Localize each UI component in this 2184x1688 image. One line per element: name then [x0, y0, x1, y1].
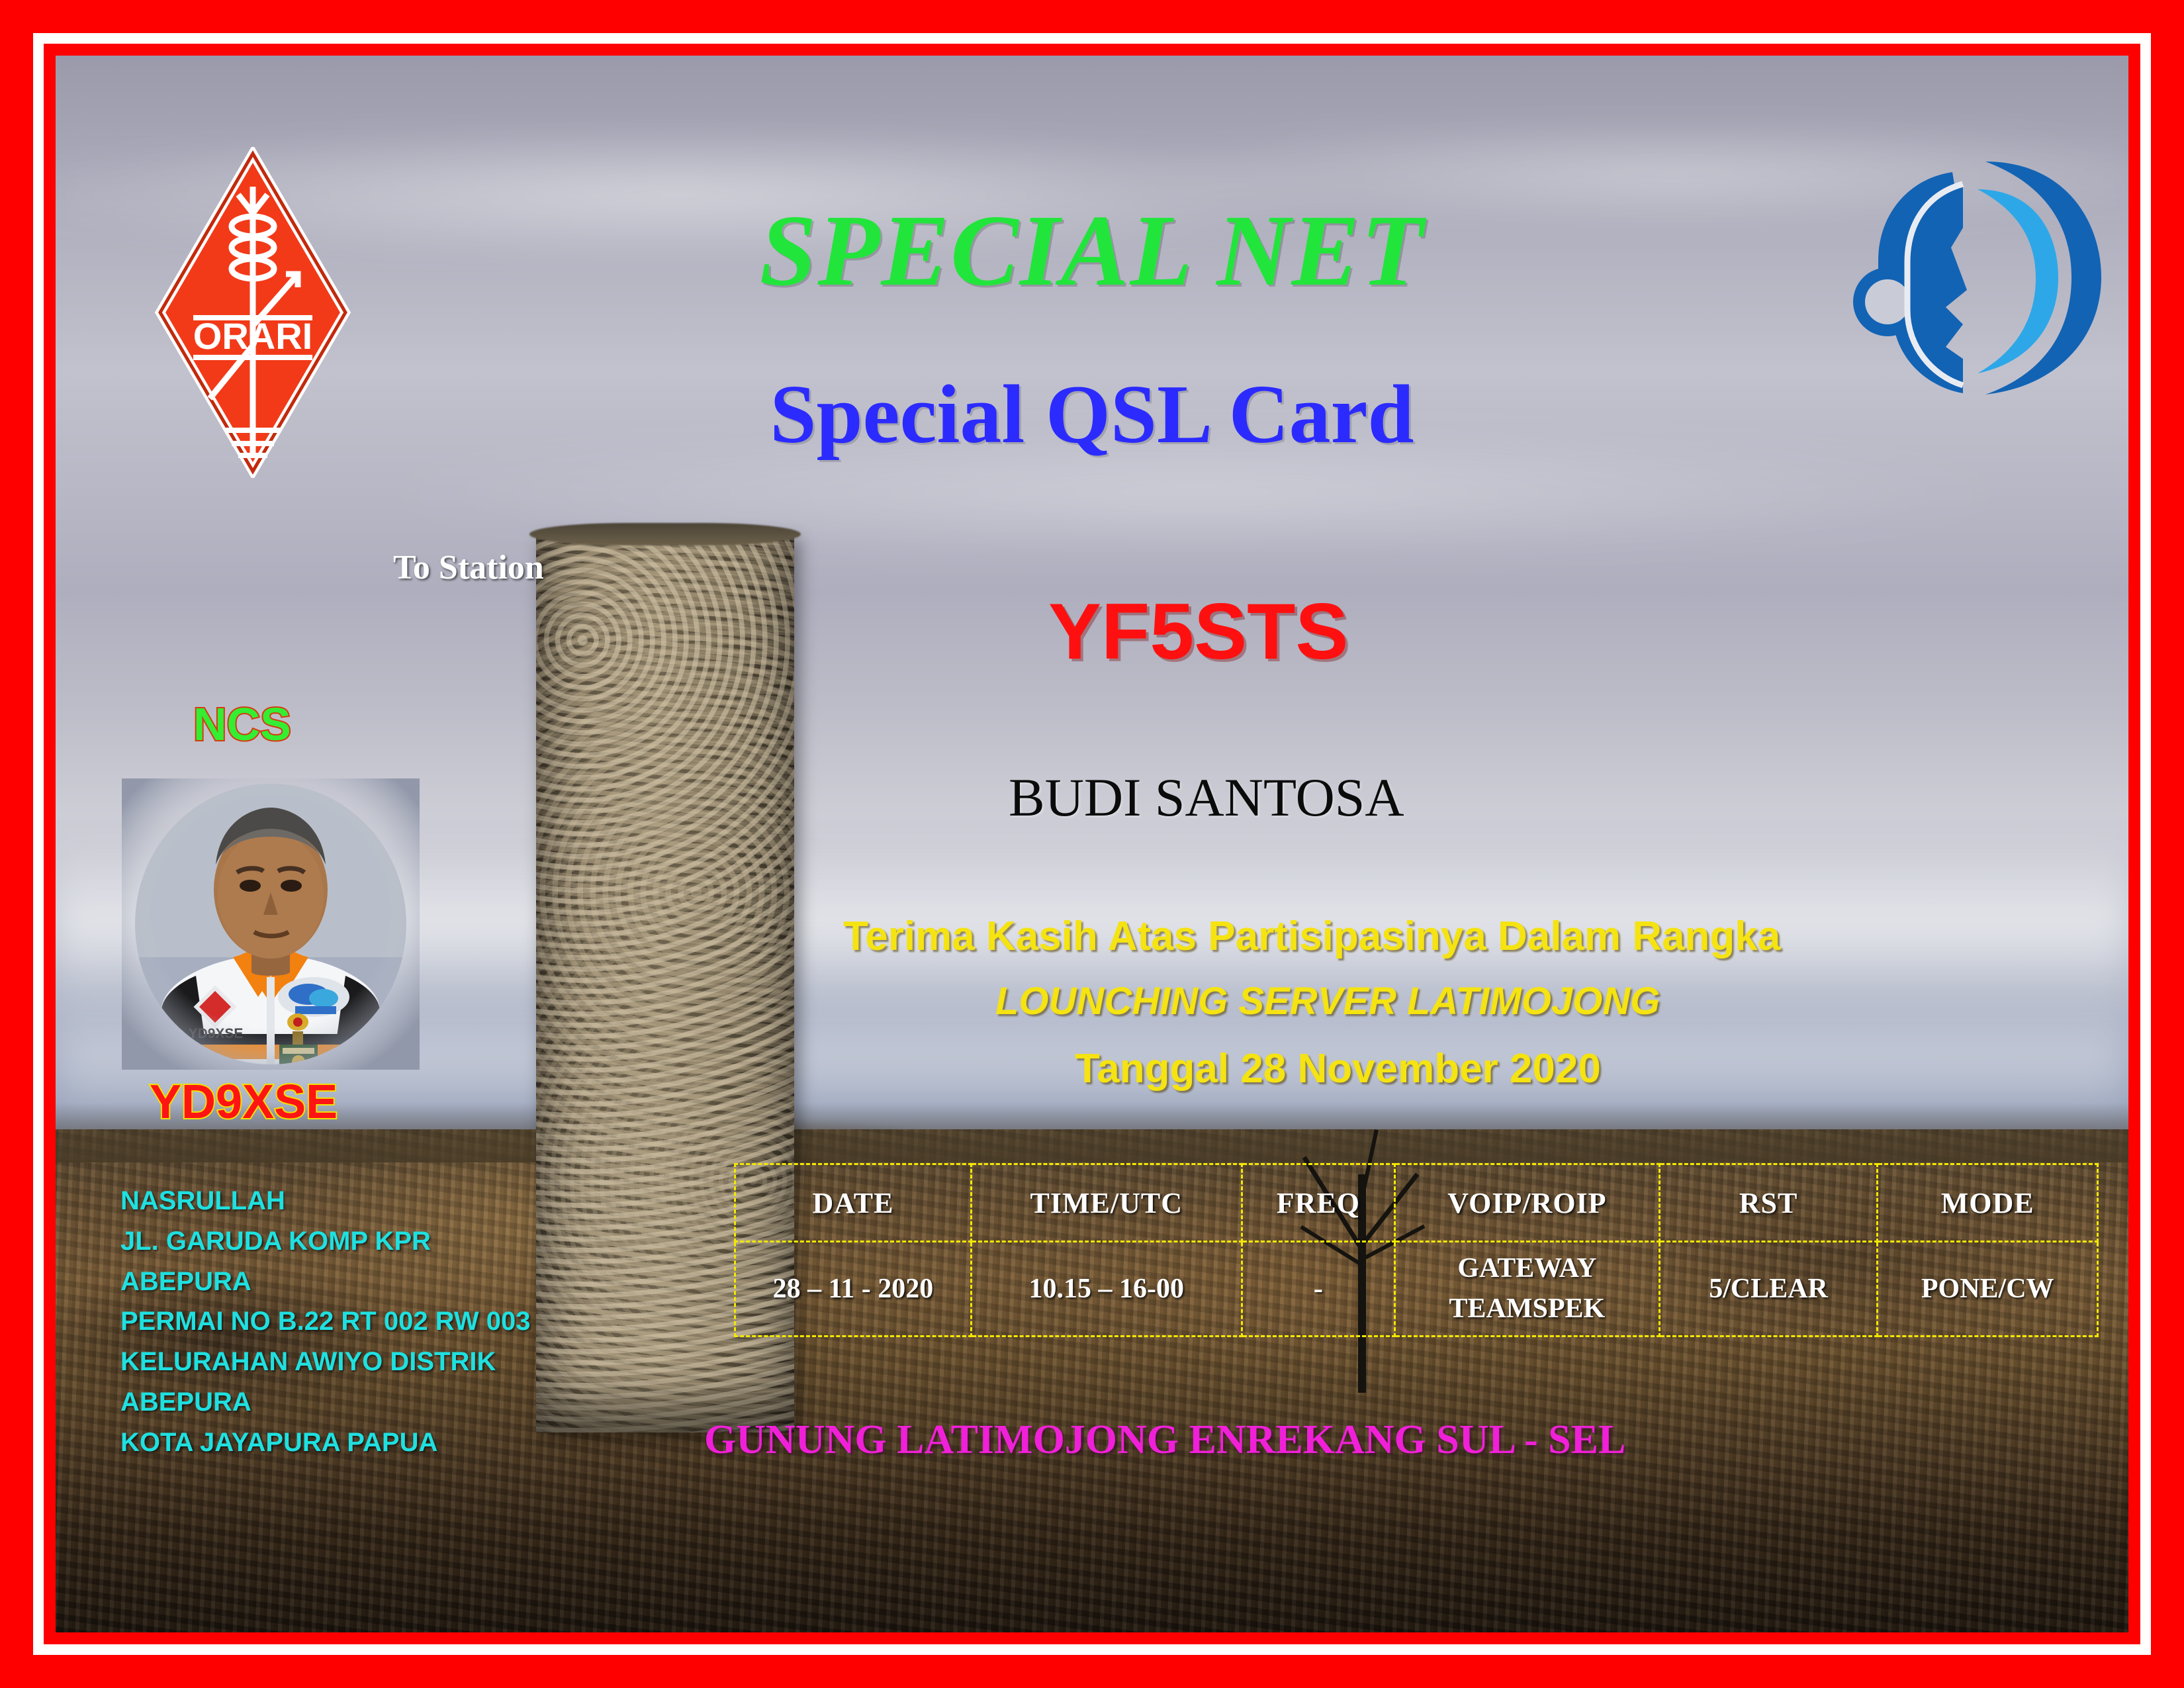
orari-logo-text: ORARI	[193, 315, 312, 357]
address-line: KOTA JAYAPURA PAPUA	[120, 1423, 530, 1463]
mountain-location-line: GUNUNG LATIMOJONG ENREKANG SUL - SEL	[704, 1419, 1625, 1460]
log-table-body: 28 – 11 - 2020 10.15 – 16-00 - GATEWAY T…	[735, 1242, 2098, 1336]
cell-date: 28 – 11 - 2020	[735, 1242, 972, 1336]
header-time-utc: TIME/UTC	[971, 1164, 1242, 1242]
address-line: PERMAI NO B.22 RT 002 RW 003	[120, 1301, 530, 1342]
table-header-row: DATE TIME/UTC FREQ VOIP/ROIP RST MODE	[735, 1164, 2098, 1242]
qso-log-table: DATE TIME/UTC FREQ VOIP/ROIP RST MODE 28…	[734, 1163, 2099, 1337]
thanks-line-3: Tanggal 28 November 2020	[1075, 1049, 1601, 1090]
header-voip-roip: VOIP/ROIP	[1395, 1164, 1660, 1242]
header-rst: RST	[1659, 1164, 1878, 1242]
thanks-line-1: Terima Kasih Atas Partisipasinya Dalam R…	[843, 916, 1780, 957]
thanks-line-2: LOUNCHING SERVER LATIMOJONG	[995, 982, 1660, 1021]
address-line: NASRULLAH	[120, 1181, 530, 1221]
address-line: ABEPURA	[120, 1262, 530, 1302]
cell-voip-line1: GATEWAY	[1396, 1248, 1658, 1289]
header-date: DATE	[735, 1164, 972, 1242]
ncs-operator-photo: YD9XSE	[122, 778, 420, 1070]
qsl-card: ORARI	[0, 0, 2184, 1688]
address-line: KELURAHAN AWIYO DISTRIK	[120, 1342, 530, 1382]
cell-voip-line2: TEAMSPEK	[1396, 1289, 1658, 1329]
address-line: JL. GARUDA KOMP KPR	[120, 1221, 530, 1262]
header-freq: FREQ	[1242, 1164, 1394, 1242]
log-table-header: DATE TIME/UTC FREQ VOIP/ROIP RST MODE	[735, 1164, 2098, 1242]
card-background-photo: ORARI	[56, 56, 2128, 1632]
cell-time: 10.15 – 16-00	[971, 1242, 1242, 1336]
cell-mode: PONE/CW	[1878, 1242, 2098, 1336]
ground-top-shadow	[56, 1103, 2128, 1162]
ncs-callsign: YD9XSE	[150, 1078, 338, 1126]
to-station-label: To Station	[393, 551, 544, 585]
operator-name: BUDI SANTOSA	[1009, 771, 1404, 825]
ncs-address-block: NASRULLAHJL. GARUDA KOMP KPRABEPURAPERMA…	[120, 1181, 530, 1463]
card-subtitle: Special QSL Card	[56, 373, 2128, 457]
table-row: 28 – 11 - 2020 10.15 – 16-00 - GATEWAY T…	[735, 1242, 2098, 1336]
monument-cap	[529, 523, 801, 545]
address-line: ABEPURA	[120, 1382, 530, 1423]
ncs-label: NCS	[193, 701, 291, 747]
header-mode: MODE	[1878, 1164, 2098, 1242]
cell-voip: GATEWAY TEAMSPEK	[1395, 1242, 1660, 1336]
cell-rst: 5/CLEAR	[1659, 1242, 1878, 1336]
card-title: SPECIAL NET	[56, 200, 2128, 302]
cell-freq: -	[1242, 1242, 1394, 1336]
station-callsign: YF5STS	[1048, 592, 1348, 671]
